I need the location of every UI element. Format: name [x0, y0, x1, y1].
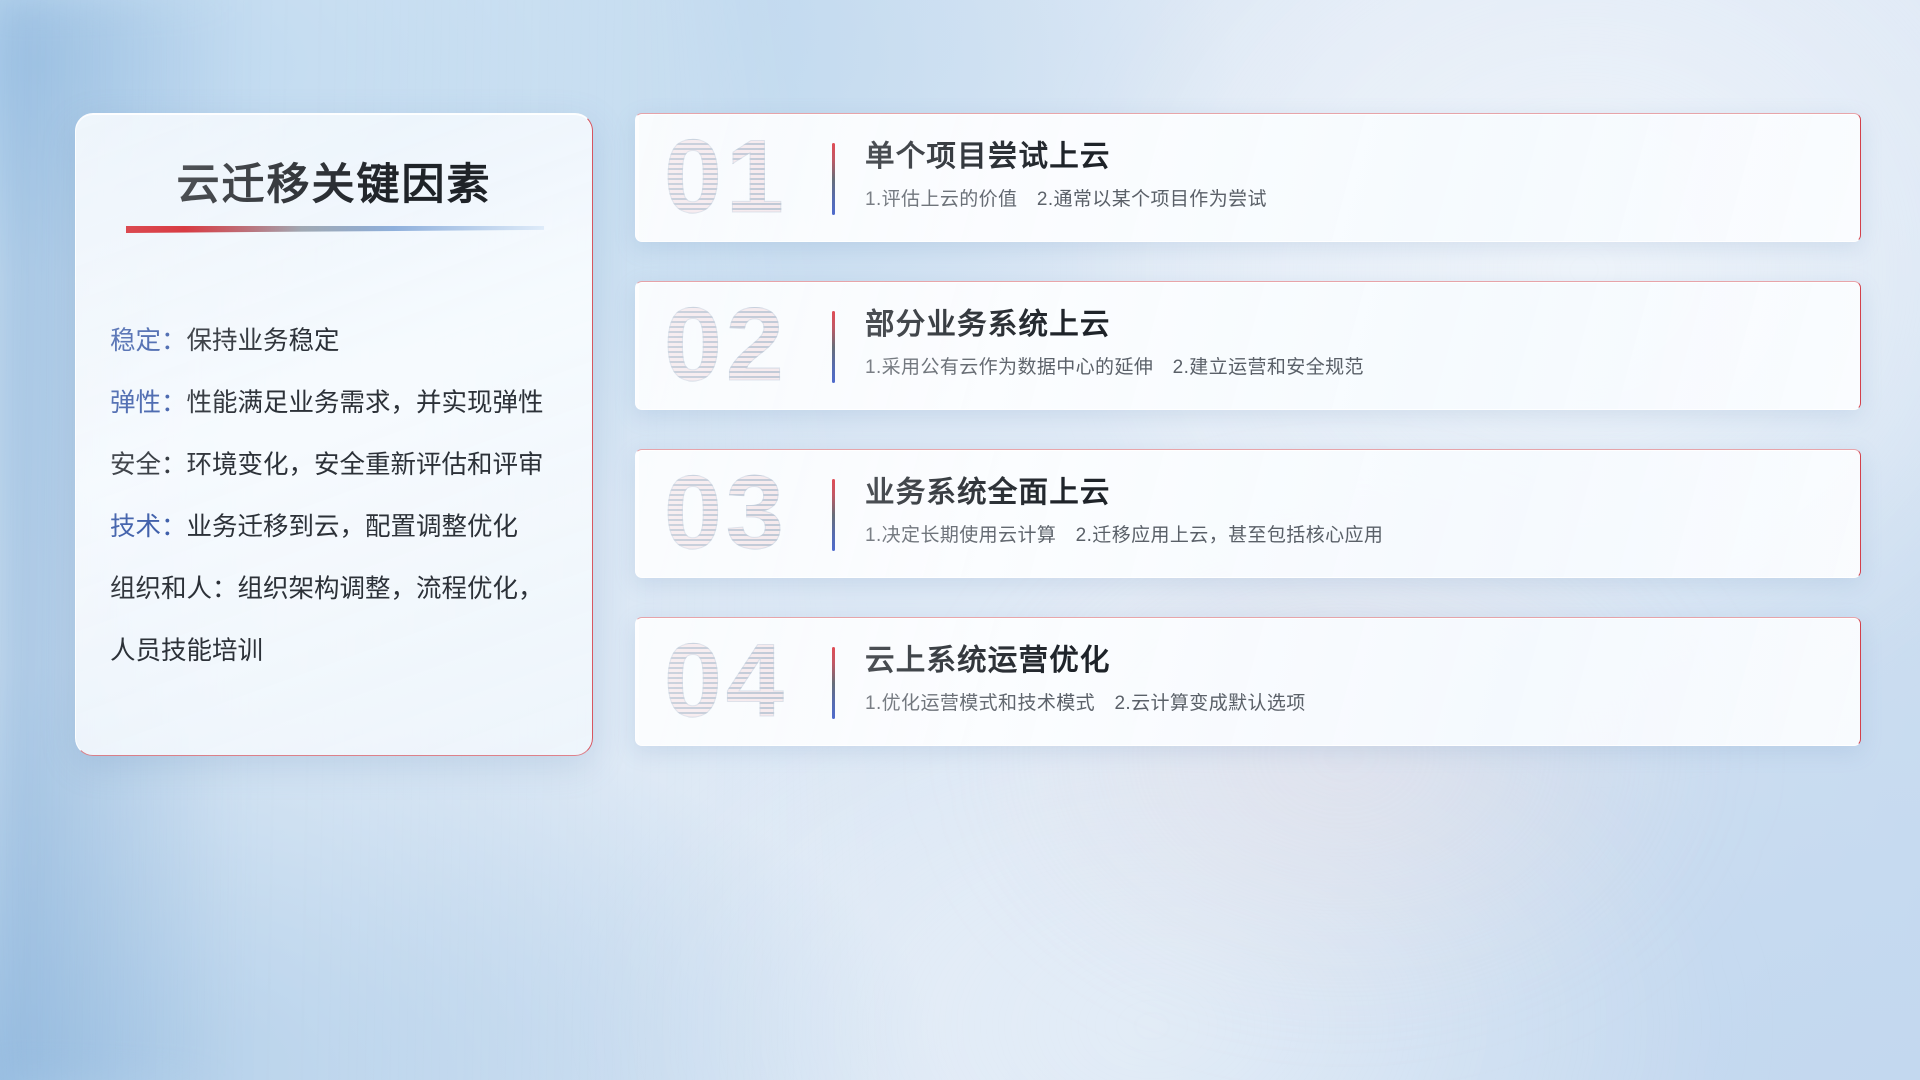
stage-number: 02	[664, 281, 788, 410]
factor-text: 人员技能培训	[110, 637, 263, 665]
factor-label: 稳定：	[110, 327, 187, 355]
slide-stage: 云迁移关键因素 稳定：保持业务稳定 弹性：性能满足业务需求，并实现弹性 安全：环…	[0, 0, 1920, 1080]
stage-card[interactable]: 04 04 云上系统运营优化 1.优化运营模式和技术模式 2.云计算变成默认选项	[635, 617, 1861, 746]
stage-card-description: 1.优化运营模式和技术模式 2.云计算变成默认选项	[865, 690, 1834, 718]
title-underline-gradient	[126, 226, 544, 233]
panel-title: 云迁移关键因素	[76, 150, 592, 212]
stage-divider-bar	[832, 311, 835, 383]
stage-card-body: 单个项目尝试上云 1.评估上云的价值 2.通常以某个项目作为尝试	[865, 135, 1834, 214]
stage-card-body: 云上系统运营优化 1.优化运营模式和技术模式 2.云计算变成默认选项	[865, 639, 1834, 718]
factor-item: 弹性：性能满足业务需求，并实现弹性	[110, 372, 574, 434]
stage-number: 04	[664, 617, 788, 746]
stage-card[interactable]: 02 02 部分业务系统上云 1.采用公有云作为数据中心的延伸 2.建立运营和安…	[635, 281, 1861, 410]
key-factors-panel: 云迁移关键因素 稳定：保持业务稳定 弹性：性能满足业务需求，并实现弹性 安全：环…	[75, 113, 593, 756]
stage-card[interactable]: 03 03 业务系统全面上云 1.决定长期使用云计算 2.迁移应用上云，甚至包括…	[635, 449, 1861, 578]
stage-card-description: 1.采用公有云作为数据中心的延伸 2.建立运营和安全规范	[865, 354, 1834, 382]
factor-label: 组织和人：	[110, 575, 238, 603]
stage-card-description: 1.评估上云的价值 2.通常以某个项目作为尝试	[865, 186, 1834, 214]
factor-label: 弹性：	[110, 389, 187, 417]
stage-card-body: 业务系统全面上云 1.决定长期使用云计算 2.迁移应用上云，甚至包括核心应用	[865, 471, 1834, 550]
factor-text: 组织架构调整，流程优化，	[238, 575, 544, 603]
factor-item: 组织和人：组织架构调整，流程优化，	[110, 558, 574, 620]
factor-text: 性能满足业务需求，并实现弹性	[187, 389, 544, 417]
stage-card-description: 1.决定长期使用云计算 2.迁移应用上云，甚至包括核心应用	[865, 522, 1834, 550]
factor-item-continuation: 人员技能培训	[110, 620, 574, 682]
stage-divider-bar	[832, 479, 835, 551]
factor-item: 安全：环境变化，安全重新评估和评审	[110, 434, 574, 496]
factor-text: 业务迁移到云，配置调整优化	[187, 513, 519, 541]
stage-number: 01	[664, 113, 788, 242]
stage-card-title: 部分业务系统上云	[865, 303, 1834, 347]
stage-card[interactable]: 01 01 单个项目尝试上云 1.评估上云的价值 2.通常以某个项目作为尝试	[635, 113, 1861, 242]
factor-text: 环境变化，安全重新评估和评审	[187, 451, 544, 479]
factor-item: 稳定：保持业务稳定	[110, 310, 574, 372]
migration-stage-card-list: 01 01 单个项目尝试上云 1.评估上云的价值 2.通常以某个项目作为尝试 0…	[635, 113, 1863, 785]
factor-item: 技术：业务迁移到云，配置调整优化	[110, 496, 574, 558]
factor-label: 技术：	[110, 513, 187, 541]
stage-divider-bar	[832, 647, 835, 719]
stage-card-title: 单个项目尝试上云	[865, 135, 1834, 179]
stage-card-title: 业务系统全面上云	[865, 471, 1834, 515]
stage-card-body: 部分业务系统上云 1.采用公有云作为数据中心的延伸 2.建立运营和安全规范	[865, 303, 1834, 382]
stage-card-title: 云上系统运营优化	[865, 639, 1834, 683]
factor-text: 保持业务稳定	[187, 327, 340, 355]
factor-list: 稳定：保持业务稳定 弹性：性能满足业务需求，并实现弹性 安全：环境变化，安全重新…	[110, 310, 574, 682]
stage-number: 03	[664, 449, 788, 578]
stage-divider-bar	[832, 143, 835, 215]
factor-label: 安全：	[110, 451, 187, 479]
